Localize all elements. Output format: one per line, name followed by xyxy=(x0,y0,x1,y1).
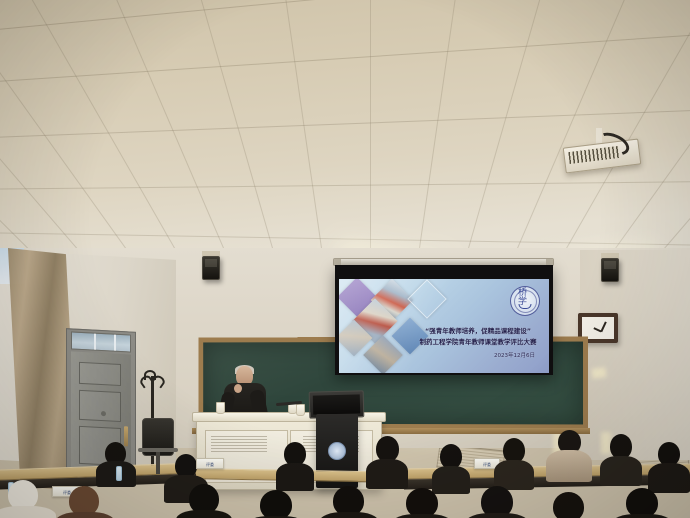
audience-person xyxy=(600,434,642,482)
wall-speaker-right xyxy=(601,258,619,282)
ceiling-tile-grid xyxy=(0,0,690,280)
audience-person-front xyxy=(0,480,56,518)
projection-screen: 桥学 “强青年教师培养，促精品课程建设” 制药工程学院青年教师课堂教学评比大赛 … xyxy=(335,265,553,375)
university-seal-icon: 桥学 xyxy=(510,286,540,316)
slide-diamond-outline xyxy=(407,279,447,319)
water-bottle-1 xyxy=(116,466,122,481)
slide-heading-line1: “强青年教师培养，促精品课程建设” xyxy=(415,327,541,336)
audience-person-front xyxy=(466,486,528,518)
audience-person-front xyxy=(392,488,452,518)
audience-person xyxy=(546,430,592,480)
slide-date: 2023年12月6日 xyxy=(415,353,541,360)
audience-person xyxy=(432,444,470,486)
audience-person-front xyxy=(246,490,306,518)
door-knob[interactable] xyxy=(101,411,106,416)
paper-cup-1 xyxy=(216,402,225,414)
audience-person-front xyxy=(176,484,232,518)
name-card-text: 评委 xyxy=(197,459,223,470)
audience-person xyxy=(366,436,408,482)
audience-person-front xyxy=(612,488,672,518)
audience-person xyxy=(494,438,534,484)
lecture-hall-photo: 桥学 “强青年教师培养，促精品课程建设” 制药工程学院青年教师课堂教学评比大赛 … xyxy=(0,0,690,518)
name-card: 评委 xyxy=(196,458,224,469)
right-wall xyxy=(580,250,690,460)
audience-person xyxy=(276,442,314,482)
ceiling xyxy=(0,0,690,280)
university-emblem-icon xyxy=(328,442,346,460)
audience-person-front xyxy=(540,492,598,518)
audience-person xyxy=(648,442,690,488)
presenter-hand xyxy=(234,384,242,393)
presentation-slide: 桥学 “强青年教师培养，促精品课程建设” 制药工程学院青年教师课堂教学评比大赛 … xyxy=(339,279,549,373)
wall-speaker-left xyxy=(202,256,220,280)
slide-heading-line2: 制药工程学院青年教师课堂教学评比大赛 xyxy=(415,338,541,347)
clock-minute-hand xyxy=(600,321,606,332)
paper-cup-3 xyxy=(296,404,305,416)
audience-person-front xyxy=(320,486,378,518)
door-transom-window xyxy=(71,331,131,352)
slide-text-block: “强青年教师培养，促精品课程建设” 制药工程学院青年教师课堂教学评比大赛 202… xyxy=(415,327,541,360)
audience-person-front xyxy=(56,486,114,518)
sunlight-patch-5 xyxy=(591,367,606,379)
